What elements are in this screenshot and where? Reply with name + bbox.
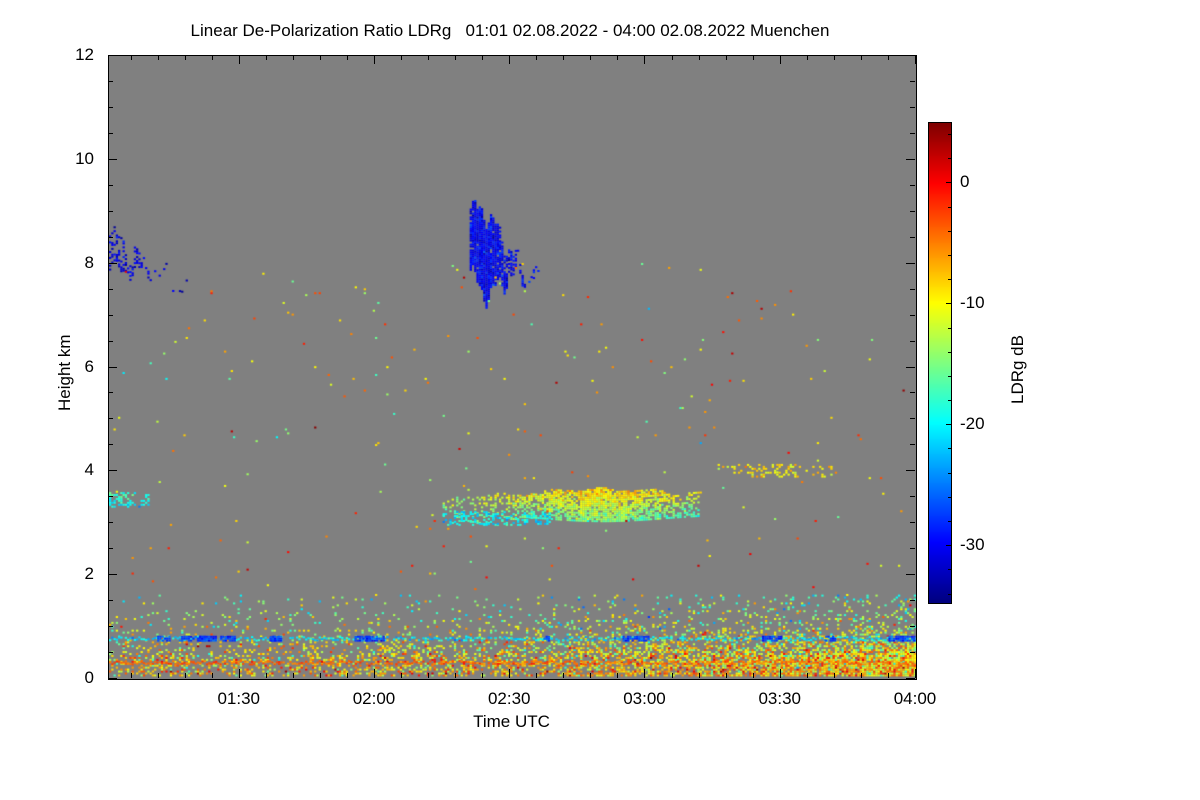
- x-axis-minor-tick: [131, 673, 132, 678]
- colorbar-minor-tick: [948, 328, 951, 329]
- y-axis-tick: [108, 159, 117, 160]
- x-axis-minor-tick: [672, 673, 673, 678]
- x-axis-minor-tick: [807, 673, 808, 678]
- colorbar-minor-tick: [948, 207, 951, 208]
- x-axis-tick: [915, 669, 916, 678]
- y-axis-minor-tick: [108, 341, 113, 342]
- y-axis-minor-tick: [910, 341, 915, 342]
- x-axis-minor-tick: [753, 55, 754, 60]
- y-axis-tick-label: 8: [0, 253, 94, 273]
- x-axis-minor-tick: [347, 55, 348, 60]
- y-axis-minor-tick: [910, 626, 915, 627]
- x-axis-minor-tick: [834, 55, 835, 60]
- y-axis-tick: [108, 574, 117, 575]
- colorbar[interactable]: [928, 122, 952, 604]
- x-axis-minor-tick: [131, 55, 132, 60]
- y-axis-tick: [906, 678, 915, 679]
- x-axis-minor-tick: [401, 673, 402, 678]
- x-axis-tick-label: 02:00: [314, 689, 434, 709]
- y-axis-minor-tick: [108, 237, 113, 238]
- x-axis-minor-tick: [563, 55, 564, 60]
- x-axis-minor-tick: [293, 673, 294, 678]
- x-axis-minor-tick: [807, 55, 808, 60]
- y-axis-minor-tick: [910, 211, 915, 212]
- y-axis-minor-tick: [910, 315, 915, 316]
- x-axis-minor-tick: [726, 55, 727, 60]
- y-axis-minor-tick: [108, 392, 113, 393]
- x-axis-minor-tick: [320, 55, 321, 60]
- y-axis-tick: [906, 263, 915, 264]
- colorbar-minor-tick: [948, 255, 951, 256]
- colorbar-minor-tick: [948, 158, 951, 159]
- x-axis-minor-tick: [158, 673, 159, 678]
- y-axis-tick: [108, 470, 117, 471]
- x-axis-minor-tick: [617, 673, 618, 678]
- colorbar-tick: [946, 424, 951, 425]
- y-axis-minor-tick: [108, 652, 113, 653]
- x-axis-minor-tick: [428, 55, 429, 60]
- x-axis-title-label: Time UTC: [108, 712, 915, 732]
- x-axis-minor-tick: [861, 673, 862, 678]
- y-axis-tick: [108, 55, 117, 56]
- colorbar-tick-label: -10: [960, 293, 985, 313]
- y-axis-minor-tick: [108, 522, 113, 523]
- y-axis-minor-tick: [910, 392, 915, 393]
- x-axis-minor-tick: [212, 55, 213, 60]
- y-axis-minor-tick: [108, 600, 113, 601]
- colorbar-minor-tick: [948, 279, 951, 280]
- colorbar-minor-tick: [948, 473, 951, 474]
- y-axis-tick: [906, 367, 915, 368]
- x-axis-tick: [644, 55, 645, 64]
- colorbar-minor-tick: [948, 569, 951, 570]
- y-axis-tick-label: 0: [0, 668, 94, 688]
- x-axis-minor-tick: [726, 673, 727, 678]
- x-axis-minor-tick: [888, 55, 889, 60]
- x-axis-minor-tick: [672, 55, 673, 60]
- x-axis-minor-tick: [347, 673, 348, 678]
- x-axis-tick: [239, 55, 240, 64]
- x-axis-minor-tick: [536, 673, 537, 678]
- x-axis-minor-tick: [293, 55, 294, 60]
- y-axis-tick-label: 12: [0, 45, 94, 65]
- x-axis-tick: [239, 669, 240, 678]
- y-axis-tick: [108, 367, 117, 368]
- x-axis-minor-tick: [320, 673, 321, 678]
- x-axis-tick: [780, 669, 781, 678]
- y-axis-minor-tick: [910, 289, 915, 290]
- y-axis-minor-tick: [108, 626, 113, 627]
- y-axis-minor-tick: [108, 185, 113, 186]
- y-axis-minor-tick: [910, 600, 915, 601]
- x-axis-minor-tick: [185, 673, 186, 678]
- colorbar-tick-label: -20: [960, 414, 985, 434]
- x-axis-minor-tick: [753, 673, 754, 678]
- x-axis-minor-tick: [536, 55, 537, 60]
- y-axis-minor-tick: [910, 652, 915, 653]
- y-axis-tick-label: 10: [0, 149, 94, 169]
- colorbar-minor-tick: [948, 231, 951, 232]
- x-axis-tick-label: 01:30: [179, 689, 299, 709]
- colorbar-minor-tick: [948, 400, 951, 401]
- y-axis-minor-tick: [910, 107, 915, 108]
- x-axis-minor-tick: [428, 673, 429, 678]
- colorbar-minor-tick: [948, 594, 951, 595]
- y-axis-minor-tick: [108, 81, 113, 82]
- x-axis-minor-tick: [482, 673, 483, 678]
- y-axis-minor-tick: [910, 185, 915, 186]
- x-axis-minor-tick: [455, 673, 456, 678]
- colorbar-minor-tick: [948, 352, 951, 353]
- colorbar-tick: [946, 182, 951, 183]
- colorbar-minor-tick: [948, 448, 951, 449]
- x-axis-minor-tick: [212, 673, 213, 678]
- y-axis-minor-tick: [910, 444, 915, 445]
- x-axis-tick-label: 02:30: [449, 689, 569, 709]
- y-axis-minor-tick: [910, 522, 915, 523]
- y-axis-tick-label: 4: [0, 460, 94, 480]
- x-axis-tick: [509, 669, 510, 678]
- x-axis-minor-tick: [185, 55, 186, 60]
- colorbar-tick: [946, 545, 951, 546]
- x-axis-minor-tick: [401, 55, 402, 60]
- y-axis-minor-tick: [910, 496, 915, 497]
- y-axis-tick-label: 6: [0, 357, 94, 377]
- colorbar-tick-label: 0: [960, 172, 969, 192]
- x-axis-minor-tick: [699, 55, 700, 60]
- y-axis-minor-tick: [910, 548, 915, 549]
- page-title: Linear De-Polarization Ratio LDRg 01:01 …: [0, 21, 1020, 41]
- y-axis-tick: [906, 159, 915, 160]
- y-axis-minor-tick: [108, 496, 113, 497]
- y-axis-minor-tick: [108, 444, 113, 445]
- y-axis-tick: [906, 55, 915, 56]
- y-axis-minor-tick: [108, 418, 113, 419]
- y-axis-tick: [108, 263, 117, 264]
- y-axis-title-label: Height km: [55, 334, 75, 411]
- y-axis-minor-tick: [910, 81, 915, 82]
- x-axis-minor-tick: [590, 673, 591, 678]
- colorbar-minor-tick: [948, 521, 951, 522]
- x-axis-minor-tick: [888, 673, 889, 678]
- ldr-heatmap-canvas[interactable]: [109, 56, 916, 679]
- x-axis-tick: [644, 669, 645, 678]
- y-axis-minor-tick: [108, 548, 113, 549]
- x-axis-tick-label: 03:00: [584, 689, 704, 709]
- y-axis-minor-tick: [108, 107, 113, 108]
- y-axis-minor-tick: [108, 289, 113, 290]
- y-axis-minor-tick: [108, 211, 113, 212]
- x-axis-minor-tick: [266, 55, 267, 60]
- y-axis-tick-label: 2: [0, 564, 94, 584]
- colorbar-tick-label: -30: [960, 535, 985, 555]
- x-axis-minor-tick: [699, 673, 700, 678]
- colorbar-title-label: LDRg dB: [1008, 335, 1028, 404]
- x-axis-tick: [374, 669, 375, 678]
- colorbar-minor-tick: [948, 497, 951, 498]
- y-axis-minor-tick: [108, 315, 113, 316]
- y-axis-tick: [906, 470, 915, 471]
- colorbar-tick: [946, 303, 951, 304]
- y-axis-tick: [108, 678, 117, 679]
- colorbar-gradient: [929, 123, 951, 603]
- x-axis-minor-tick: [563, 673, 564, 678]
- x-axis-tick: [780, 55, 781, 64]
- colorbar-minor-tick: [948, 376, 951, 377]
- colorbar-minor-tick: [948, 134, 951, 135]
- x-axis-minor-tick: [158, 55, 159, 60]
- heatmap-plot-area[interactable]: [108, 55, 917, 680]
- x-axis-minor-tick: [590, 55, 591, 60]
- x-axis-minor-tick: [617, 55, 618, 60]
- y-axis-minor-tick: [108, 133, 113, 134]
- x-axis-tick: [509, 55, 510, 64]
- x-axis-minor-tick: [455, 55, 456, 60]
- y-axis-tick: [906, 574, 915, 575]
- x-axis-tick: [915, 55, 916, 64]
- x-axis-minor-tick: [482, 55, 483, 60]
- x-axis-minor-tick: [861, 55, 862, 60]
- x-axis-tick-label: 03:30: [720, 689, 840, 709]
- x-axis-minor-tick: [834, 673, 835, 678]
- y-axis-minor-tick: [910, 237, 915, 238]
- y-axis-minor-tick: [910, 133, 915, 134]
- ldr-figure: Linear De-Polarization Ratio LDRg 01:01 …: [0, 0, 1200, 800]
- x-axis-tick-label: 04:00: [855, 689, 975, 709]
- x-axis-tick: [374, 55, 375, 64]
- x-axis-minor-tick: [266, 673, 267, 678]
- y-axis-minor-tick: [910, 418, 915, 419]
